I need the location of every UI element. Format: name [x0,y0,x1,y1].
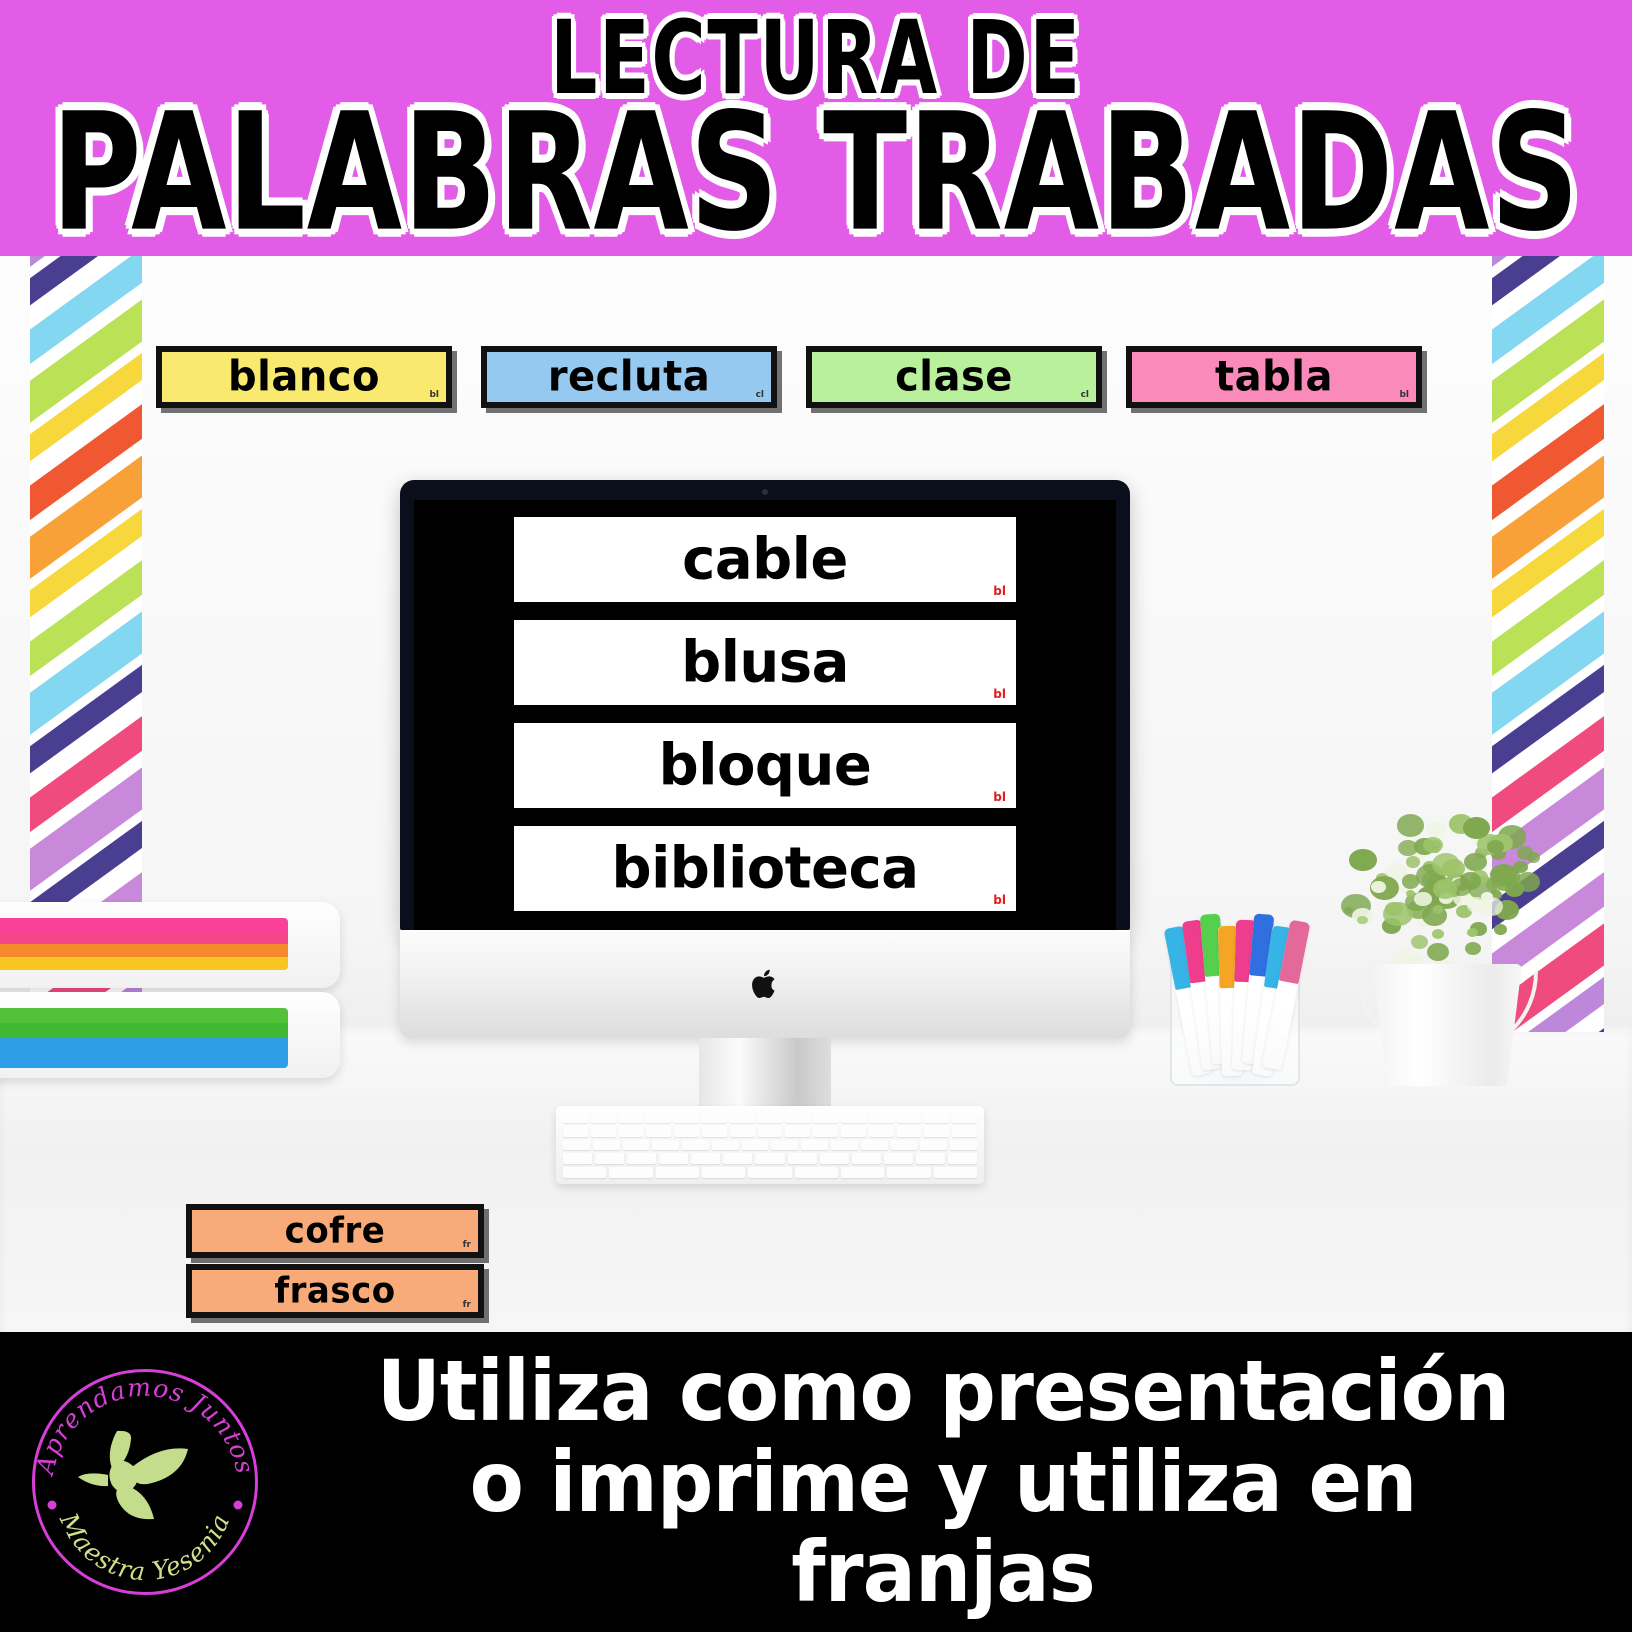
keyboard-key [820,1153,849,1164]
word-card-tag: fr [463,1240,471,1250]
word-strip-text: biblioteca [612,835,919,901]
keyboard-key [924,1126,949,1137]
word-card-tag: fr [463,1300,471,1310]
keyboard-key [563,1112,588,1123]
keyboard-key [563,1126,588,1137]
foliage-blob [1357,916,1368,925]
keyboard-key [869,1112,894,1123]
word-card-frasco: frasco fr [186,1264,484,1318]
foliage-blob [1398,840,1418,856]
word-strip-tag: bl [993,893,1006,907]
keyboard-key [646,1112,671,1123]
foliage-blob [1414,892,1431,906]
word-card-text: frasco [274,1270,395,1312]
keyboard-key [691,1153,720,1164]
paper-tray-bottom [0,992,340,1078]
keyboard-key [950,1140,977,1151]
word-card-tag: cl [1081,390,1089,400]
potted-plant [1320,796,1570,1096]
keyboard-key [897,1126,922,1137]
word-card-blanco: blanco bl [156,346,452,408]
word-strip: cable bl [509,512,1021,607]
keyboard-key [712,1140,739,1151]
keyboard-key [841,1167,884,1178]
imac-bezel: cable bl blusa bl bloque bl biblioteca b… [400,480,1130,930]
keyboard-key [795,1167,838,1178]
paper-sheet [0,1008,288,1023]
keyboard-key [591,1126,616,1137]
keyboard-key [674,1112,699,1123]
word-card-tag: bl [429,390,439,400]
keyboard-key [742,1140,769,1151]
keyboard-key [869,1126,894,1137]
keyboard-row [563,1112,977,1123]
keyboard-key [948,1153,977,1164]
keyboard-key [652,1140,679,1151]
imac-computer: cable bl blusa bl bloque bl biblioteca b… [400,480,1130,1166]
keyboard-key [788,1153,817,1164]
keyboard-key [813,1126,838,1137]
word-card-text: tabla [1215,353,1333,401]
foliage-blob [1494,924,1508,935]
word-card-tag: cl [756,390,764,400]
title-line-2: PALABRAS TRABADAS [52,102,1581,245]
keyboard-key [593,1140,620,1151]
keyboard-key [952,1126,977,1137]
word-card-tag: bl [1399,390,1409,400]
imac-chin [400,930,1130,1038]
plant-foliage [1332,796,1558,982]
keyboard-key [813,1112,838,1123]
keyboard-row [563,1153,977,1164]
word-card-text: recluta [548,353,710,401]
foliage-blob [1465,942,1481,955]
keyboard-key [801,1140,828,1151]
foliage-blob [1423,837,1443,853]
keyboard-key [563,1167,606,1178]
word-strip-tag: bl [993,687,1006,701]
paper-sheet [0,1023,288,1038]
logo-artwork: Aprendamos Juntos Maestra Yesenia [22,1359,268,1605]
keyboard-key [723,1153,752,1164]
word-card-cofre: cofre fr [186,1204,484,1258]
keyboard-key [623,1140,650,1151]
footer-line-2: o imprime y utiliza en franjas [309,1437,1578,1618]
word-strip-text: bloque [659,732,872,798]
keyboard-key [897,1112,922,1123]
keyboard-key [682,1140,709,1151]
keyboard-key [730,1112,755,1123]
word-strip-tag: bl [993,790,1006,804]
paper-sheet [0,931,288,944]
keyboard-key [952,1112,977,1123]
foliage-blob [1397,814,1425,837]
footer-line-1: Utiliza como presentación [309,1346,1578,1437]
footer-text: Utiliza como presentación o imprime y ut… [268,1346,1632,1618]
word-strip: biblioteca bl [509,821,1021,916]
word-strip: blusa bl [509,615,1021,710]
keyboard-key [591,1112,616,1123]
keyboard-key [595,1153,624,1164]
keyboard-key [841,1126,866,1137]
foliage-blob [1411,935,1428,949]
bottom-word-cards: cofre fr frasco fr [186,1204,484,1318]
keyboard-key [674,1126,699,1137]
keyboard-row [563,1126,977,1137]
word-strip-text: blusa [681,629,849,695]
marker-cup-group [1170,886,1300,1086]
colored-paper-stack [0,1008,288,1068]
keyboard-key [627,1153,656,1164]
keyboard-key [841,1112,866,1123]
apple-logo-icon [750,966,780,1002]
word-card-recluta: recluta cl [481,346,777,408]
foliage-blob [1393,949,1414,966]
paper-sheet [0,957,288,970]
keyboard-key [659,1153,688,1164]
keyboard-key [887,1167,930,1178]
foliage-blob [1527,852,1540,863]
paper-tray-top [0,902,340,988]
webcam-icon [762,489,768,495]
keyboard-key [563,1140,590,1151]
foliage-blob [1349,849,1377,872]
keyboard-key [702,1167,745,1178]
imac-screen: cable bl blusa bl bloque bl biblioteca b… [414,500,1116,930]
word-strip-text: cable [682,526,848,592]
keyboard-key [619,1112,644,1123]
brand-logo: Aprendamos Juntos Maestra Yesenia [22,1359,268,1605]
header-banner: LECTURA DE PALABRAS TRABADAS [0,0,1632,256]
colored-paper-stack [0,918,288,970]
plant-pot [1372,964,1522,1086]
keyboard-key [920,1140,947,1151]
foliage-blob [1402,874,1420,888]
keyboard-key [771,1140,798,1151]
keyboard-key [646,1126,671,1137]
word-card-clase: clase cl [806,346,1102,408]
keyboard-key [702,1112,727,1123]
keyboard-key [861,1140,888,1151]
classroom-desk-photo: cable bl blusa bl bloque bl biblioteca b… [0,256,1632,1332]
keyboard-key [563,1153,592,1164]
foliage-blob [1426,821,1446,837]
word-card-tabla: tabla bl [1126,346,1422,408]
foliage-blob [1479,897,1503,916]
word-strip: bloque bl [509,718,1021,813]
word-card-text: cofre [285,1210,386,1252]
paper-sheet [0,1038,288,1053]
keyboard-key [891,1140,918,1151]
keyboard [556,1106,984,1184]
keyboard-key [916,1153,945,1164]
svg-text:Maestra Yesenia: Maestra Yesenia [54,1507,236,1586]
foliage-blob [1464,853,1487,871]
keyboard-key [656,1167,699,1178]
keyboard-key [831,1140,858,1151]
keyboard-key [755,1153,784,1164]
footer-banner: Aprendamos Juntos Maestra Yesenia Utiliz… [0,1332,1632,1632]
paper-sheet [0,944,288,957]
foliage-blob [1406,856,1421,868]
paper-sheet [0,918,288,931]
paper-sheet [0,1053,288,1068]
keyboard-key [934,1167,977,1178]
keyboard-key [884,1153,913,1164]
keyboard-row [563,1140,977,1151]
keyboard-key [748,1167,791,1178]
keyboard-key [702,1126,727,1137]
keyboard-key [852,1153,881,1164]
foliage-blob [1432,929,1444,939]
keyboard-row [563,1167,977,1178]
paper-tray-stack [0,902,348,1082]
keyboard-key [758,1112,783,1123]
foliage-blob [1406,890,1415,897]
word-strip-tag: bl [993,584,1006,598]
foliage-blob [1427,943,1449,961]
word-card-text: clase [895,353,1013,401]
keyboard-key [619,1126,644,1137]
keyboard-key [924,1112,949,1123]
foliage-blob [1467,928,1478,937]
keyboard-key [785,1126,810,1137]
hummingbird-leaf-icon [78,1431,188,1519]
word-card-text: blanco [228,353,380,401]
keyboard-key [758,1126,783,1137]
keyboard-key [609,1167,652,1178]
foliage-blob [1371,881,1385,893]
keyboard-key [785,1112,810,1123]
keyboard-key [730,1126,755,1137]
foliage-blob [1487,840,1504,854]
product-cover: cable bl blusa bl bloque bl biblioteca b… [0,0,1632,1632]
